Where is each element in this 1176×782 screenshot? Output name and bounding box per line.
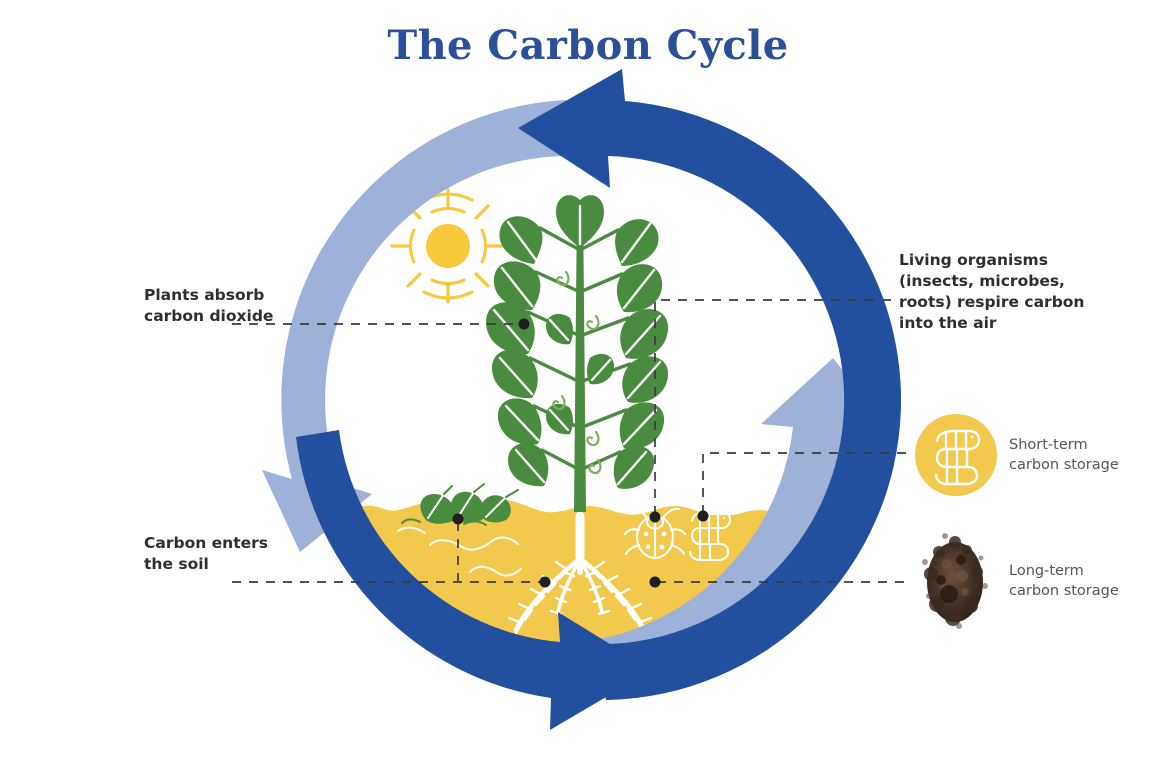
callout-carbon-enters-soil: Carbon enters the soil bbox=[144, 533, 334, 575]
callout-plants-absorb: Plants absorb carbon dioxide bbox=[144, 285, 334, 327]
dot-plant bbox=[519, 319, 530, 330]
soil-pile-icon bbox=[915, 530, 999, 630]
legend-long-term-swatch bbox=[915, 530, 999, 630]
legend-short-term-swatch bbox=[915, 414, 997, 496]
callout-living-organisms: Living organisms (insects, microbes, roo… bbox=[899, 250, 1169, 334]
dot-soil-deep bbox=[650, 577, 661, 588]
carbon-cycle-diagram: The Carbon Cycle bbox=[0, 0, 1176, 782]
dot-ladybug bbox=[650, 512, 661, 523]
dot-worm bbox=[698, 511, 709, 522]
worm-icon bbox=[915, 414, 997, 496]
legend-long-term-label: Long-term carbon storage bbox=[1009, 561, 1169, 601]
plant-icon bbox=[486, 195, 668, 512]
legend-short-term-label: Short-term carbon storage bbox=[1009, 435, 1169, 475]
dot-fallen-leaves bbox=[453, 514, 464, 525]
cycle-illustration bbox=[0, 0, 1176, 782]
dot-roots bbox=[540, 577, 551, 588]
